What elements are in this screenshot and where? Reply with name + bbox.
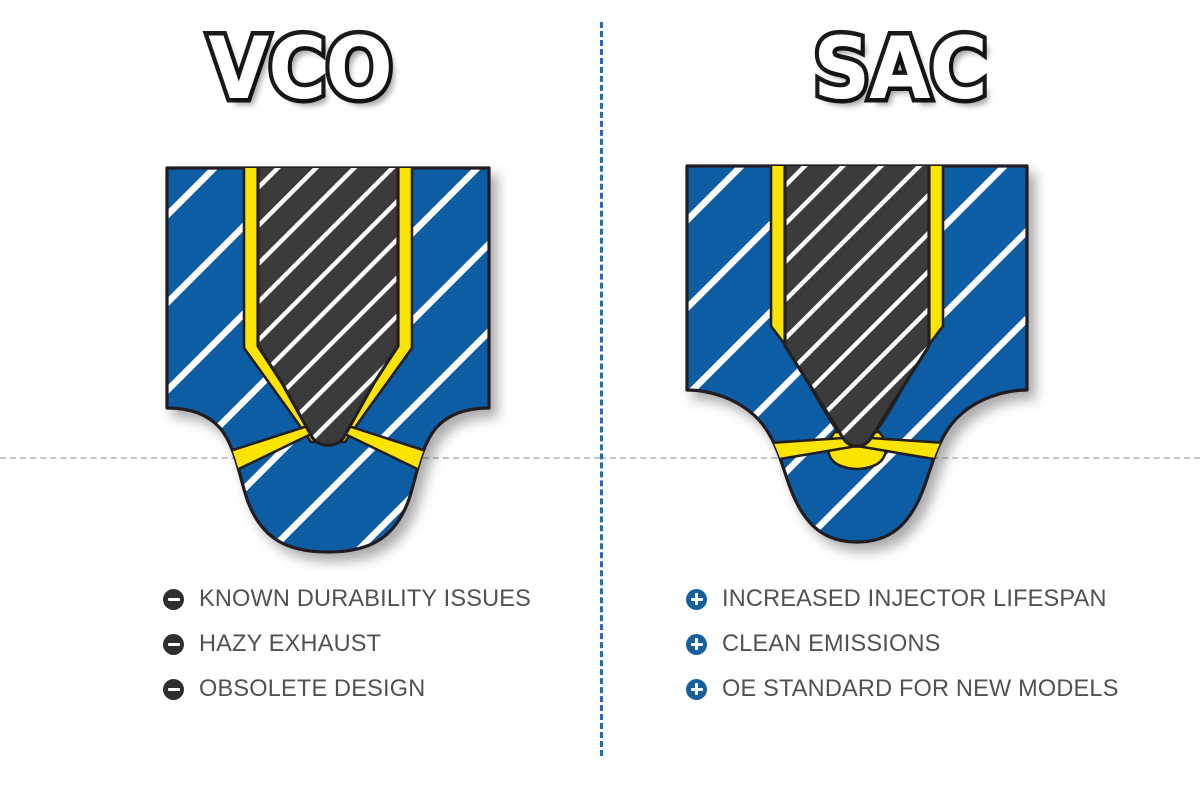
minus-circle-icon [163,589,184,610]
sac-nozzle-cross-section [665,150,1065,570]
plus-circle-icon [686,679,707,700]
list-item: INCREASED INJECTOR LIFESPAN [686,578,1135,620]
feature-list-right: INCREASED INJECTOR LIFESPAN CLEAN EMISSI… [686,578,1135,713]
list-item: OBSOLETE DESIGN [163,668,545,710]
panel-title-left: VCO [24,26,576,112]
feature-label: OE STANDARD FOR NEW MODELS [722,675,1119,703]
vco-nozzle-cross-section [140,150,540,570]
panel-divider [600,22,603,756]
list-item: KNOWN DURABILITY ISSUES [163,578,545,620]
minus-circle-icon [163,634,184,655]
panel-title-right: SAC [624,26,1176,112]
list-item: CLEAN EMISSIONS [686,623,1135,665]
plus-circle-icon [686,589,707,610]
feature-list-left: KNOWN DURABILITY ISSUES HAZY EXHAUST OBS… [163,578,545,713]
comparison-diagram-canvas: VCO SAC [0,0,1200,800]
feature-label: HAZY EXHAUST [199,630,381,658]
plus-circle-icon [686,634,707,655]
feature-label: OBSOLETE DESIGN [199,675,425,703]
feature-label: KNOWN DURABILITY ISSUES [199,585,531,613]
feature-label: INCREASED INJECTOR LIFESPAN [722,585,1107,613]
list-item: HAZY EXHAUST [163,623,545,665]
minus-circle-icon [163,679,184,700]
feature-label: CLEAN EMISSIONS [722,630,941,658]
list-item: OE STANDARD FOR NEW MODELS [686,668,1135,710]
